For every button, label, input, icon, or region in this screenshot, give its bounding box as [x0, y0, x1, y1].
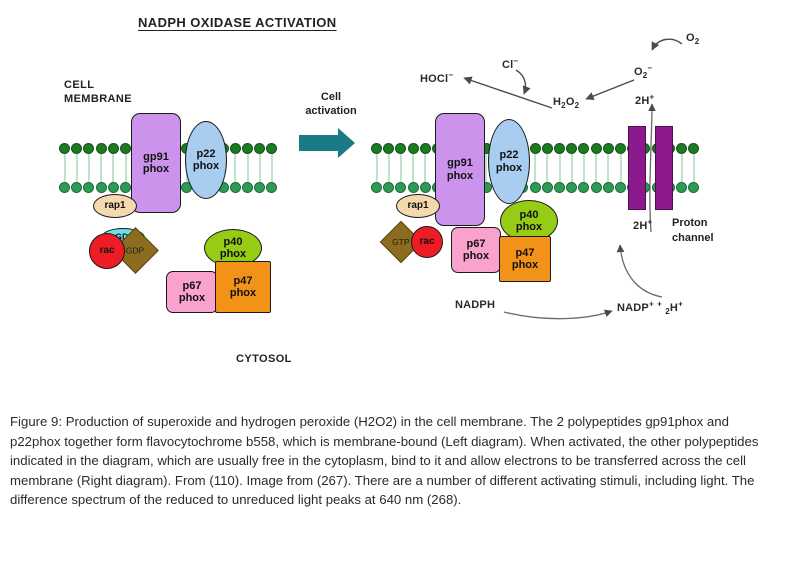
- protein-p47phox-right-line2: phox: [512, 259, 538, 272]
- protein-gp91phox-right[interactable]: gp91 phox: [435, 113, 485, 226]
- arrow-nadp-to-protons: [620, 245, 662, 297]
- protein-p67phox-left[interactable]: p67 phox: [166, 271, 218, 313]
- label-oxygen-text: O2: [686, 32, 699, 44]
- cell-activation-label-line2: activation: [298, 104, 364, 118]
- arrow-nadph-to-nadp: [504, 311, 612, 319]
- label-superoxide-text: O2−: [634, 66, 652, 78]
- protein-p40phox-left-line1: p40: [224, 236, 243, 249]
- nucleotide-gtp-right-label: GTP: [392, 237, 409, 247]
- arrow-h2o2-to-hocl: [464, 78, 552, 108]
- protein-p47phox-left-line1: p47: [234, 275, 253, 288]
- protein-p67phox-left-line1: p67: [183, 280, 202, 293]
- protein-p67phox-right-line2: phox: [463, 250, 489, 263]
- protein-rac-right-label: rac: [419, 236, 434, 249]
- protein-p22phox-right-line1: p22: [500, 149, 519, 162]
- protein-p40phox-right-line1: p40: [520, 209, 539, 222]
- figure-caption: Figure 9: Production of superoxide and h…: [10, 412, 778, 510]
- label-protons-cytosolic: 2H+: [633, 217, 652, 232]
- protein-p22phox-right[interactable]: p22 phox: [488, 119, 530, 204]
- protein-gp91phox-right-line2: phox: [447, 170, 473, 183]
- label-nadph-text: NADPH: [455, 299, 495, 311]
- protein-rap1-right[interactable]: rap1: [396, 194, 440, 218]
- cell-activation-arrow-icon: [299, 128, 355, 158]
- protein-p47phox-left-line2: phox: [230, 287, 256, 300]
- protein-p40phox-right-line2: phox: [516, 221, 542, 234]
- proton-channel-label-line2: channel: [672, 231, 714, 246]
- protein-p47phox-left[interactable]: p47 phox: [215, 261, 271, 313]
- label-superoxide: O2−: [634, 63, 652, 80]
- cell-activation-label: Cell activation: [298, 90, 364, 118]
- arrow-chloride-to-h2o2: [516, 70, 525, 94]
- protein-p47phox-right[interactable]: p47 phox: [499, 236, 551, 282]
- proton-channel-subunit-right[interactable]: [655, 126, 673, 210]
- protein-rac-left[interactable]: rac: [89, 233, 125, 269]
- protein-p22phox-left[interactable]: p22 phox: [185, 121, 227, 199]
- cell-membrane-label: CELL MEMBRANE: [64, 78, 132, 106]
- label-nadp-plus-text: NADP+ + 2H+: [617, 302, 683, 314]
- label-hydrogen-peroxide-text: H2O2: [553, 96, 579, 108]
- label-chloride-text: Cl−: [502, 59, 518, 71]
- arrow-superoxide-to-h2o2: [586, 80, 634, 99]
- protein-gp91phox-right-line1: gp91: [447, 157, 473, 170]
- protein-rap1-right-label: rap1: [407, 200, 428, 213]
- protein-p47phox-right-line1: p47: [516, 247, 535, 260]
- cell-activation-label-line1: Cell: [298, 90, 364, 104]
- protein-p22phox-right-line2: phox: [496, 162, 522, 175]
- label-protons-extracellular: 2H+: [635, 92, 654, 107]
- protein-rap1-left[interactable]: rap1: [93, 194, 137, 218]
- label-protons-cytosolic-text: 2H+: [633, 220, 652, 232]
- protein-p22phox-left-line2: phox: [193, 160, 219, 173]
- protein-rac-left-label: rac: [99, 245, 114, 258]
- label-hocl-text: HOCl−: [420, 73, 453, 85]
- protein-gp91phox-left-line2: phox: [143, 163, 169, 176]
- proton-channel-label-line1: Proton: [672, 216, 714, 231]
- protein-rap1-left-label: rap1: [104, 200, 125, 213]
- cytosol-label: CYTOSOL: [236, 352, 292, 366]
- protein-p67phox-left-line2: phox: [179, 292, 205, 305]
- cell-membrane-label-line2: MEMBRANE: [64, 92, 132, 106]
- label-oxygen: O2: [686, 32, 699, 46]
- label-nadph: NADPH: [455, 299, 495, 311]
- protein-gp91phox-left[interactable]: gp91 phox: [131, 113, 181, 213]
- nucleotide-gdp-left-label: GDP: [126, 245, 144, 255]
- cell-membrane-label-line1: CELL: [64, 78, 132, 92]
- protein-p40phox-left-line2: phox: [220, 248, 246, 261]
- arrow-o2-to-superoxide: [652, 39, 682, 50]
- label-nadp-plus: NADP+ + 2H+: [617, 299, 683, 316]
- protein-rac-right[interactable]: rac: [411, 226, 443, 258]
- protein-gp91phox-left-line1: gp91: [143, 151, 169, 164]
- proton-channel-label: Proton channel: [672, 216, 714, 246]
- protein-p67phox-right[interactable]: p67 phox: [451, 227, 501, 273]
- page-title: NADPH OXIDASE ACTIVATION: [138, 15, 337, 30]
- label-protons-extracellular-text: 2H+: [635, 95, 654, 107]
- protein-p67phox-right-line1: p67: [467, 238, 486, 251]
- label-hocl: HOCl−: [420, 70, 453, 85]
- label-chloride: Cl−: [502, 56, 518, 71]
- label-hydrogen-peroxide: H2O2: [553, 96, 579, 110]
- protein-p22phox-left-line1: p22: [197, 148, 216, 161]
- proton-channel-subunit-left[interactable]: [628, 126, 646, 210]
